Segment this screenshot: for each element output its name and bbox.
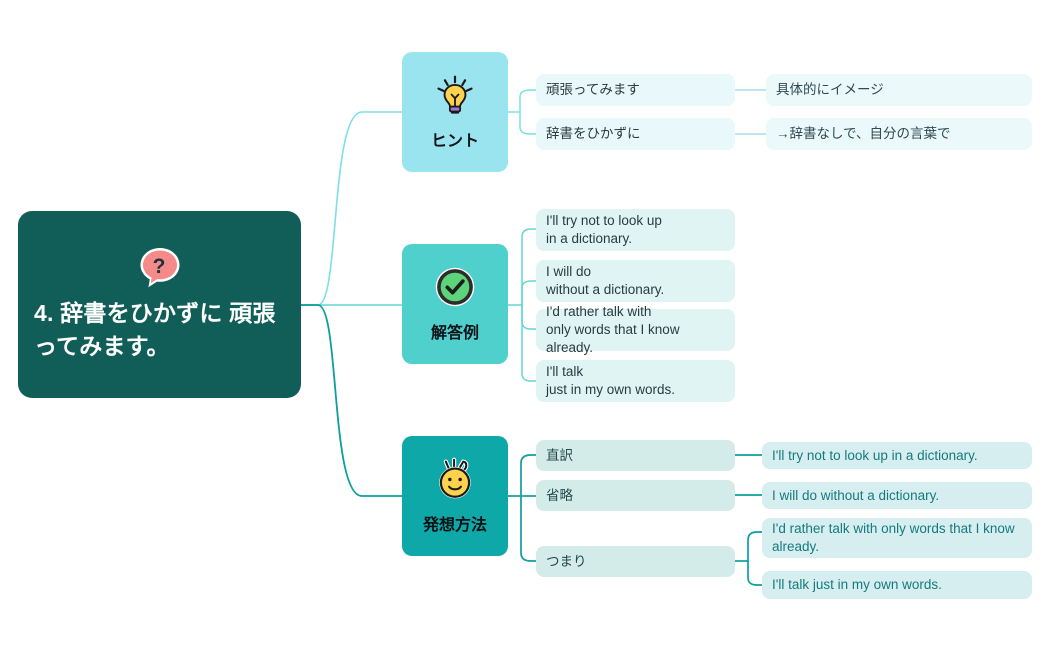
leaf-method-grandchild-2[interactable]: I will do without a dictionary.: [762, 482, 1032, 509]
leaf-text: I'll try not to look up in a dictionary.: [546, 212, 662, 248]
leaf-text: I'd rather talk with only words that I k…: [772, 520, 1022, 556]
lightbulb-icon: [433, 73, 477, 117]
link-answers-child-4: [522, 305, 536, 381]
leaf-text: 直訳: [546, 447, 573, 465]
leaf-text: →辞書なしで、自分の言葉で: [776, 125, 951, 143]
link-method-gc-4: [748, 561, 762, 585]
leaf-method-3[interactable]: つまり: [536, 546, 735, 577]
branch-node-method[interactable]: 発想方法: [402, 436, 508, 556]
leaf-method-2[interactable]: 省略: [536, 480, 735, 511]
leaf-hint-child-1[interactable]: 頑張ってみます: [536, 74, 735, 106]
leaf-method-grandchild-4[interactable]: I'll talk just in my own words.: [762, 571, 1032, 599]
link-answers-child-1: [522, 229, 536, 305]
leaf-answers-4[interactable]: I'll talk just in my own words.: [536, 360, 735, 402]
link-method-child-1: [521, 455, 536, 496]
smiley-face-icon: [433, 457, 477, 501]
leaf-answers-1[interactable]: I'll try not to look up in a dictionary.: [536, 209, 735, 251]
leaf-text: 具体的にイメージ: [776, 81, 884, 99]
leaf-text: I'll talk just in my own words.: [772, 576, 942, 594]
branch-label-method: 発想方法: [423, 511, 487, 535]
leaf-method-grandchild-3[interactable]: I'd rather talk with only words that I k…: [762, 518, 1032, 558]
leaf-text: I will do without a dictionary.: [772, 487, 939, 505]
leaf-hint-child-2[interactable]: 辞書をひかずに: [536, 118, 735, 150]
root-title: 4. 辞書をひかずに 頑張ってみます。: [34, 297, 285, 362]
leaf-text: つまり: [546, 553, 587, 571]
check-circle-icon: [433, 265, 477, 309]
branch-label-hint: ヒント: [431, 127, 479, 151]
leaf-text: I will do without a dictionary.: [546, 263, 664, 299]
link-root-hint: [301, 112, 402, 305]
link-hint-child-2: [520, 112, 536, 134]
leaf-method-grandchild-1[interactable]: I'll try not to look up in a dictionary.: [762, 442, 1032, 469]
leaf-text: I'll talk just in my own words.: [546, 363, 675, 399]
leaf-text: I'd rather talk with only words that I k…: [546, 303, 725, 356]
svg-text:?: ?: [152, 255, 165, 278]
link-root-method: [301, 305, 402, 496]
leaf-method-1[interactable]: 直訳: [536, 440, 735, 471]
branch-label-answers: 解答例: [431, 319, 479, 343]
leaf-text: 省略: [546, 487, 573, 505]
leaf-answers-3[interactable]: I'd rather talk with only words that I k…: [536, 309, 735, 351]
leaf-text: 頑張ってみます: [546, 81, 640, 99]
link-method-gc-3: [748, 532, 762, 561]
link-answers-child-3: [522, 305, 536, 329]
link-method-child-3: [521, 496, 536, 561]
root-node[interactable]: ? 4. 辞書をひかずに 頑張ってみます。: [18, 211, 301, 398]
leaf-hint-grandchild-1[interactable]: 具体的にイメージ: [766, 74, 1032, 106]
branch-node-hint[interactable]: ヒント: [402, 52, 508, 172]
mindmap-canvas: ? 4. 辞書をひかずに 頑張ってみます。 ヒント 頑張ってみます 辞書をひかず…: [0, 0, 1049, 650]
question-speech-bubble-icon: ?: [136, 243, 184, 291]
leaf-text: 辞書をひかずに: [546, 125, 641, 143]
leaf-answers-2[interactable]: I will do without a dictionary.: [536, 260, 735, 302]
leaf-hint-grandchild-2[interactable]: →辞書なしで、自分の言葉で: [766, 118, 1032, 150]
link-hint-child-1: [520, 90, 536, 112]
branch-node-answers[interactable]: 解答例: [402, 244, 508, 364]
link-answers-child-2: [522, 281, 536, 305]
leaf-text: I'll try not to look up in a dictionary.: [772, 447, 978, 465]
